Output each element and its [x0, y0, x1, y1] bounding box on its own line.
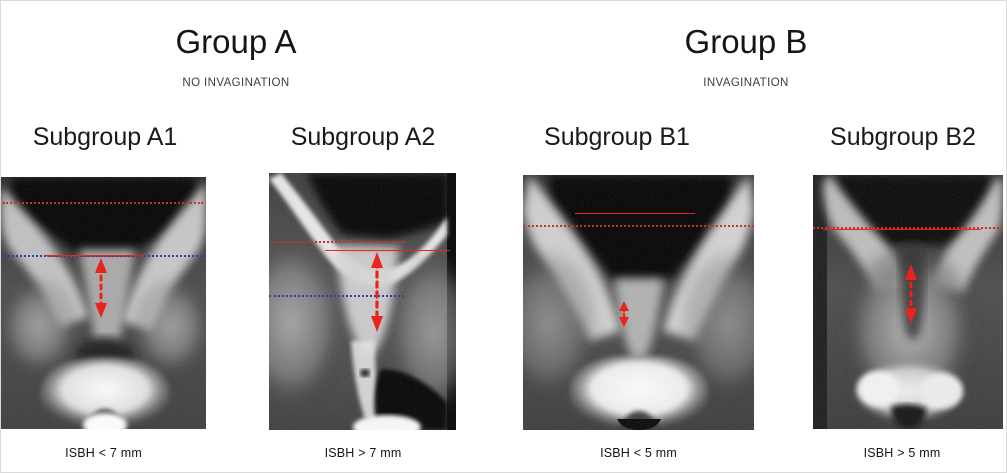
- isbh-double-arrow-a1: [91, 257, 111, 319]
- subgroup-title-a2: Subgroup A2: [259, 125, 467, 150]
- red-dotted-reference-line-b1: [523, 225, 754, 227]
- red-dotted-reference-line-a2: [271, 241, 405, 243]
- red-solid-reference-line-a2: [325, 250, 450, 251]
- red-solid-reference-line-b1: [575, 213, 695, 214]
- caption-b2: ISBH > 5 mm: [801, 447, 1003, 460]
- caption-a1: ISBH < 7 mm: [1, 447, 206, 460]
- cbct-scan-image-a2: [269, 173, 456, 430]
- subgroup-title-b1: Subgroup B1: [513, 125, 721, 150]
- subgroup-title-b2: Subgroup B2: [799, 125, 1007, 150]
- group-title-a: Group A: [111, 25, 361, 58]
- figure-container: Group A NO INVAGINATION Group B INVAGINA…: [0, 0, 1007, 473]
- radiograph-panel-a1: [1, 177, 206, 429]
- isbh-double-arrow-a2: [367, 251, 387, 333]
- red-solid-reference-line-b2: [823, 229, 981, 230]
- radiograph-panel-b2: [813, 175, 1003, 429]
- isbh-double-arrow-b1: [614, 301, 634, 327]
- group-subtitle-a: NO INVAGINATION: [111, 78, 361, 90]
- radiograph-panel-b1: [523, 175, 754, 430]
- group-title-b: Group B: [621, 25, 871, 58]
- red-dotted-reference-line-a1: [3, 202, 203, 204]
- group-subtitle-b: INVAGINATION: [621, 78, 871, 90]
- caption-a2: ISBH > 7 mm: [263, 447, 463, 460]
- radiograph-panel-a2: [269, 173, 456, 430]
- caption-b1: ISBH < 5 mm: [523, 447, 754, 460]
- subgroup-title-a1: Subgroup A1: [1, 125, 209, 150]
- isbh-double-arrow-b2: [901, 263, 921, 325]
